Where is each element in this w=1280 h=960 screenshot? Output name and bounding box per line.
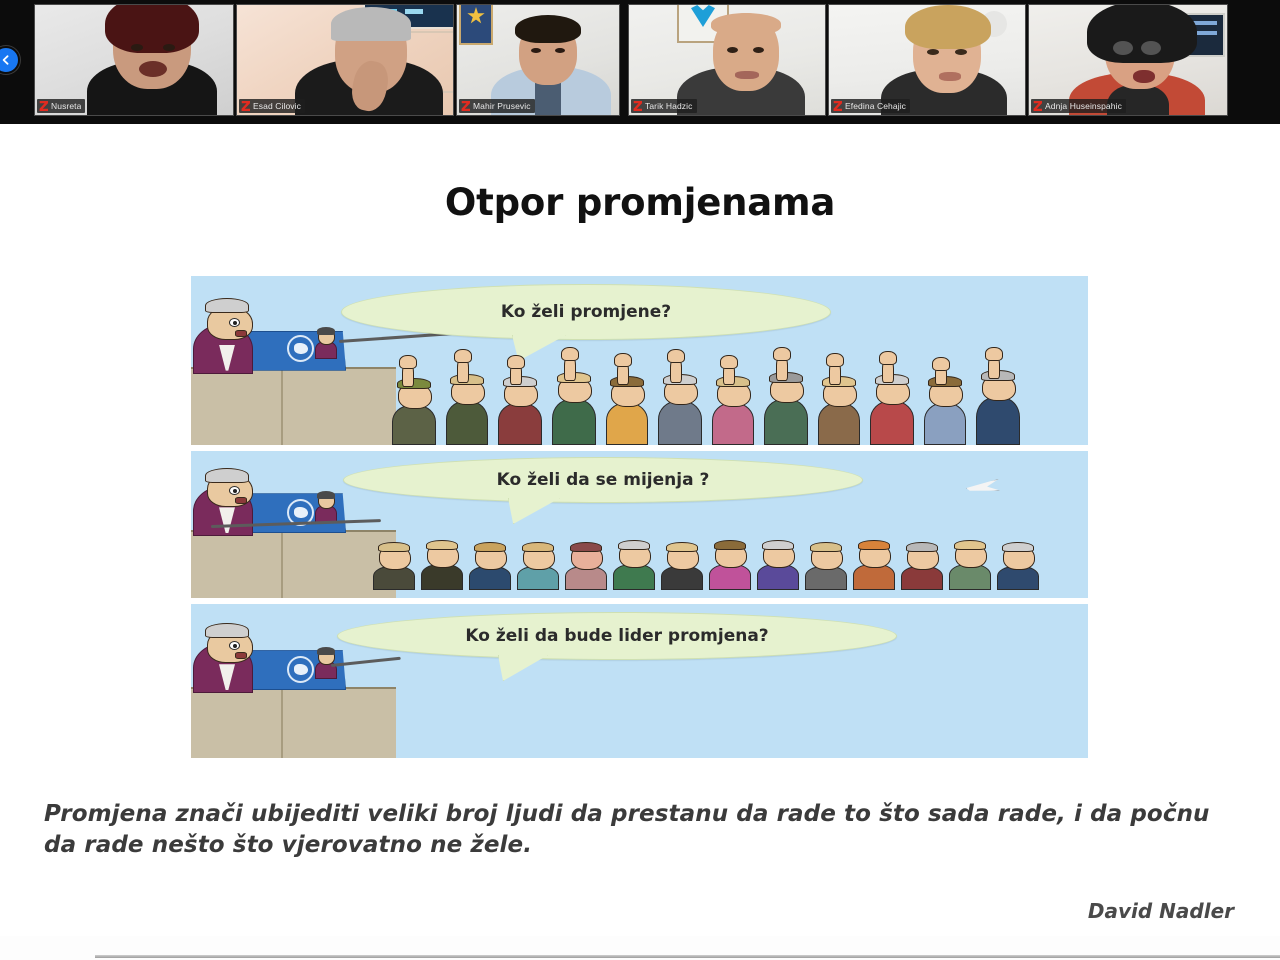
- speaker-mouth: [235, 652, 247, 659]
- zoom-logo-icon: [1033, 101, 1042, 111]
- participant-name: Efedina Cehajic: [845, 101, 906, 111]
- participant-name-badge: Esad Cilovic: [239, 99, 305, 113]
- participant-tile[interactable]: Nusreta: [34, 4, 234, 116]
- participant-tile[interactable]: Tarik Hadzic: [628, 4, 826, 116]
- paper-plane-icon: [965, 479, 1000, 496]
- shared-screen-slide: Otpor promjenama Ko želi promjene?: [0, 124, 1280, 936]
- aide-figure: [313, 329, 339, 359]
- comic-panel-2: Ko želi da se mijenja ?: [191, 451, 1088, 598]
- speaker-hair: [205, 298, 249, 313]
- zoom-logo-icon: [39, 101, 48, 111]
- video-participant-strip: Nusreta Esad Cilovic: [0, 0, 1280, 124]
- participant-tile[interactable]: Mahir Prusevic: [456, 4, 620, 116]
- zoom-logo-icon: [633, 101, 642, 111]
- participant-tile[interactable]: Efedina Cehajic: [828, 4, 1026, 116]
- slide-caption: Promjena znači ubijediti veliki broj lju…: [44, 799, 1234, 861]
- bottom-bar: [0, 936, 1280, 960]
- speaker-hair: [205, 468, 249, 483]
- zoom-logo-icon: [241, 101, 250, 111]
- zoom-logo-icon: [833, 101, 842, 111]
- participant-name-badge: Mahir Prusevic: [459, 99, 535, 113]
- participant-name-badge: Adnja Huseinspahic: [1031, 99, 1126, 113]
- bottom-divider: [95, 955, 1280, 958]
- audience-crowd-no-hands: [371, 534, 1076, 590]
- participant-name: Adnja Huseinspahic: [1045, 101, 1122, 111]
- chevron-left-icon[interactable]: [0, 46, 20, 74]
- speaker-mouth: [235, 330, 247, 337]
- desk: [191, 367, 396, 445]
- participant-tile[interactable]: Adnja Huseinspahic: [1028, 4, 1228, 116]
- speech-bubble: Ko želi da se mijenja ?: [343, 457, 863, 503]
- participant-name-badge: Efedina Cehajic: [831, 99, 910, 113]
- participant-name: Mahir Prusevic: [473, 101, 531, 111]
- previous-participants-button[interactable]: [0, 44, 30, 76]
- comic-strip: Ko želi promjene?: [191, 276, 1088, 758]
- speech-bubble-text: Ko želi da bude lider promjena?: [465, 626, 768, 646]
- audience-crowd-hands-raised: [386, 276, 1088, 445]
- speaker-mouth: [235, 497, 247, 504]
- comic-panel-3: Ko želi da bude lider promjena?: [191, 604, 1088, 758]
- participant-name-badge: Tarik Hadzic: [631, 99, 697, 113]
- organization-emblem-icon: [287, 335, 314, 362]
- participant-name: Esad Cilovic: [253, 101, 301, 111]
- participant-name-badge: Nusreta: [37, 99, 85, 113]
- speech-bubble: Ko želi da bude lider promjena?: [337, 612, 897, 660]
- desk: [191, 530, 396, 598]
- speech-bubble-text: Ko želi da se mijenja ?: [497, 470, 710, 490]
- zoom-logo-icon: [461, 101, 470, 111]
- speech-bubble-tail: [498, 655, 548, 681]
- desk: [191, 687, 396, 758]
- page-title: Otpor promjenama: [0, 181, 1280, 224]
- participant-name: Nusreta: [51, 101, 81, 111]
- speaker-eye: [229, 318, 240, 327]
- participant-name: Tarik Hadzic: [645, 101, 693, 111]
- quote-attribution: David Nadler: [1088, 899, 1234, 923]
- comic-panel-1: Ko želi promjene?: [191, 276, 1088, 445]
- speech-bubble-tail: [508, 498, 560, 524]
- aide-figure: [313, 493, 339, 523]
- organization-emblem-icon: [287, 656, 314, 683]
- speaker-hair: [205, 623, 249, 638]
- participant-tile[interactable]: Esad Cilovic: [236, 4, 454, 116]
